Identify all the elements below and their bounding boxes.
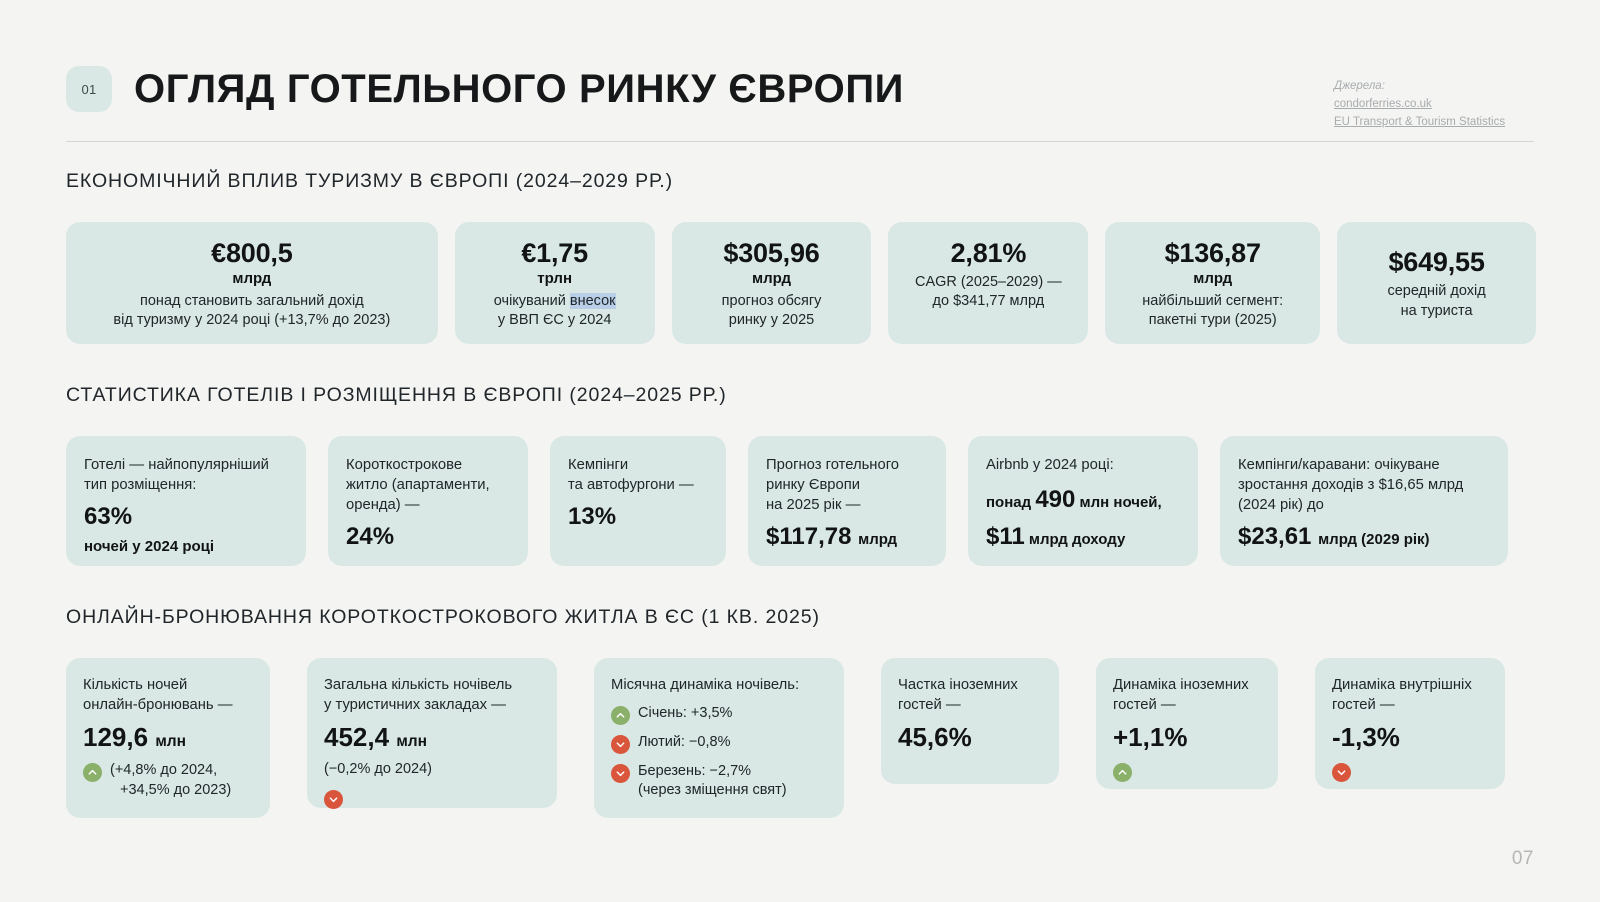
page-title: ОГЛЯД ГОТЕЛЬНОГО РИНКУ ЄВРОПИ xyxy=(134,69,904,109)
card-lead-line-2: житло (апартаменти, xyxy=(346,476,510,496)
stat-card-cagr: 2,81% CAGR (2025–2029) — до $341,77 млрд xyxy=(888,222,1088,344)
section-title-online-bookings: ОНЛАЙН-БРОНЮВАННЯ КОРОТКОСТРОКОВОГО ЖИТЛ… xyxy=(66,606,820,629)
card-value: 129,6 млн xyxy=(83,722,253,753)
card-value: $117,78 млрд xyxy=(766,522,928,552)
chevron-up-icon xyxy=(611,706,630,725)
month-label-note: (через зміщення свят) xyxy=(638,781,787,800)
month-label: Березень: −2,7% xyxy=(638,762,787,781)
card-value-sub: ночей у 2024 році xyxy=(84,537,288,557)
stat-card-avg-revenue-per-tourist: $649,55 середній дохід на туриста xyxy=(1337,222,1536,344)
card-value-unit: млн xyxy=(396,733,427,750)
card-lead-line-2: онлайн-бронювань — xyxy=(83,696,253,716)
trend-row: (+4,8% до 2024, +34,5% до 2023) xyxy=(83,761,253,800)
stat-card-total-revenue: €800,5 млрд понад становить загальний до… xyxy=(66,222,438,344)
stat-card-foreign-guest-share: Частка іноземних гостей — 45,6% xyxy=(881,658,1059,784)
stat-desc-line-1: понад становить загальний дохід xyxy=(140,292,364,311)
stat-desc-line-2: ринку у 2025 xyxy=(729,311,815,330)
trend-text-line-2: +34,5% до 2023) xyxy=(110,781,231,801)
trend-text: (+4,8% до 2024, +34,5% до 2023) xyxy=(110,761,231,800)
chapter-number-badge: 01 xyxy=(66,66,112,112)
card-lead-line-2: гостей — xyxy=(1332,696,1488,716)
section-title-economic-impact: ЕКОНОМІЧНИЙ ВПЛИВ ТУРИЗМУ В ЄВРОПІ (2024… xyxy=(66,170,673,193)
trend-text-line-1: (+4,8% до 2024, xyxy=(110,761,231,781)
source-link-2[interactable]: EU Transport & Tourism Statistics xyxy=(1334,114,1534,132)
stat-card-online-booking-nights: Кількість ночей онлайн-бронювань — 129,6… xyxy=(66,658,270,818)
list-item: Лютий: −0,8% xyxy=(611,733,827,754)
strong-suffix: млрд доходу xyxy=(1025,531,1126,548)
stat-card-foreign-guest-dynamics: Динаміка іноземних гостей — +1,1% xyxy=(1096,658,1278,789)
stat-value: €800,5 xyxy=(211,238,292,268)
card-lead-line-1: Частка іноземних xyxy=(898,676,1042,696)
chevron-up-icon xyxy=(1113,763,1132,782)
source-link-1[interactable]: condorferries.co.uk xyxy=(1334,96,1534,114)
stat-desc-line-2: пакетні тури (2025) xyxy=(1149,311,1277,330)
stat-card-camping-revenue-growth: Кемпінги/каравани: очікуване зростання д… xyxy=(1220,436,1508,566)
page-number: 07 xyxy=(1512,848,1534,870)
card-value-unit: млрд (2029 рік) xyxy=(1318,531,1429,548)
selected-text-highlight: внесок xyxy=(570,293,616,309)
stat-card-domestic-guest-dynamics: Динаміка внутрішніх гостей — -1,3% xyxy=(1315,658,1505,789)
section-title-hotel-statistics: СТАТИСТИКА ГОТЕЛІВ І РОЗМІЩЕННЯ В ЄВРОПІ… xyxy=(66,384,727,407)
stat-card-monthly-dynamics: Місячна динаміка ночівель: Січень: +3,5%… xyxy=(594,658,844,818)
card-lead-line-1: Короткострокове xyxy=(346,456,510,476)
online-bookings-card-row: Кількість ночей онлайн-бронювань — 129,6… xyxy=(66,658,1536,818)
stat-value: 2,81% xyxy=(951,238,1027,268)
card-value: -1,3% xyxy=(1332,722,1488,753)
stat-card-hotels-share: Готелі — найпопулярніший тип розміщення:… xyxy=(66,436,306,566)
stat-desc-line-2: у ВВП ЄС у 2024 xyxy=(498,311,612,330)
slide-header: 01 ОГЛЯД ГОТЕЛЬНОГО РИНКУ ЄВРОПИ Джерела… xyxy=(66,56,1534,144)
chevron-up-icon xyxy=(83,763,102,782)
list-item: Березень: −2,7% (через зміщення свят) xyxy=(611,762,827,800)
list-item: Січень: +3,5% xyxy=(611,704,827,725)
sources-block: Джерела: condorferries.co.uk EU Transpor… xyxy=(1334,78,1534,131)
stat-desc-line-2: на туриста xyxy=(1401,302,1473,321)
stat-unit: млрд xyxy=(752,269,791,289)
card-lead-line-3: (2024 рік) до xyxy=(1238,496,1490,516)
stat-desc-line-2: до $341,77 млрд xyxy=(933,292,1045,311)
card-lead-line-2: тип розміщення: xyxy=(84,476,288,496)
stat-desc-line-1: середній дохід xyxy=(1387,282,1485,301)
card-lead-line-1: Загальна кількість ночівель xyxy=(324,676,540,696)
hotel-statistics-card-row: Готелі — найпопулярніший тип розміщення:… xyxy=(66,436,1536,566)
card-lead-line-1: Кемпінги/каравани: очікуване xyxy=(1238,456,1490,476)
stat-card-gdp-contribution: €1,75 трлн очікуваний внесок у ВВП ЄС у … xyxy=(455,222,655,344)
stat-desc-line-2: від туризму у 2024 році (+13,7% до 2023) xyxy=(113,311,390,330)
card-value: 13% xyxy=(568,502,708,532)
economic-impact-card-row: €800,5 млрд понад становить загальний до… xyxy=(66,222,1536,344)
card-value-unit: млн xyxy=(155,733,186,750)
strong-number: $11 xyxy=(986,523,1025,550)
stat-desc-line-1: очікуваний внесок xyxy=(494,292,616,311)
stat-card-short-term-rental-share: Короткострокове житло (апартаменти, орен… xyxy=(328,436,528,566)
card-value: 45,6% xyxy=(898,722,1042,753)
chevron-down-icon xyxy=(611,735,630,754)
card-value: 24% xyxy=(346,522,510,552)
card-lead-line-2: та автофургони — xyxy=(568,476,708,496)
card-lead-line-2: гостей — xyxy=(1113,696,1261,716)
stat-desc-line-1: CAGR (2025–2029) — xyxy=(915,273,1062,292)
card-value: +1,1% xyxy=(1113,722,1261,753)
card-strong-line-1: понад 490 млн ночей, xyxy=(986,483,1180,518)
strong-prefix: понад xyxy=(986,494,1035,511)
chevron-down-icon xyxy=(1332,763,1351,782)
card-lead-line-2: у туристичних закладах — xyxy=(324,696,540,716)
card-value-number: $23,61 xyxy=(1238,523,1311,550)
stat-card-hotel-market-forecast: Прогноз готельного ринку Європи на 2025 … xyxy=(748,436,946,566)
card-value: 63% xyxy=(84,502,288,532)
card-lead-line-1: Airbnb у 2024 році: xyxy=(986,456,1180,476)
stat-unit: млрд xyxy=(232,269,271,289)
card-lead-line-2: зростання доходів з $16,65 млрд xyxy=(1238,476,1490,496)
card-lead-line-1: Місячна динаміка ночівель: xyxy=(611,676,827,696)
stat-desc-line-1: прогноз обсягу xyxy=(722,292,822,311)
monthly-dynamics-list: Січень: +3,5% Лютий: −0,8% Березень: −2,… xyxy=(611,704,827,800)
stat-card-airbnb: Airbnb у 2024 році: понад 490 млн ночей,… xyxy=(968,436,1198,566)
stat-unit: млрд xyxy=(1193,269,1232,289)
card-value-number: $117,78 xyxy=(766,523,851,550)
sources-label: Джерела: xyxy=(1334,78,1534,96)
month-label: Лютий: −0,8% xyxy=(638,733,731,752)
card-value-number: 129,6 xyxy=(83,722,148,752)
desc-text: очікуваний xyxy=(494,293,570,309)
month-label-group: Березень: −2,7% (через зміщення свят) xyxy=(638,762,787,800)
header-row: 01 ОГЛЯД ГОТЕЛЬНОГО РИНКУ ЄВРОПИ xyxy=(66,56,1534,122)
stat-card-largest-segment: $136,87 млрд найбільший сегмент: пакетні… xyxy=(1105,222,1320,344)
card-value-number: 452,4 xyxy=(324,722,389,752)
stat-value: $649,55 xyxy=(1388,247,1484,277)
stat-desc-line-1: найбільший сегмент: xyxy=(1142,292,1283,311)
card-lead-line-1: Динаміка іноземних xyxy=(1113,676,1261,696)
strong-number: 490 xyxy=(1035,486,1075,513)
chevron-down-icon xyxy=(611,764,630,783)
card-lead-line-1: Кемпінги xyxy=(568,456,708,476)
stat-card-total-nights: Загальна кількість ночівель у туристични… xyxy=(307,658,557,808)
stat-value: $305,96 xyxy=(723,238,819,268)
card-lead-line-1: Динаміка внутрішніх xyxy=(1332,676,1488,696)
card-lead-line-1: Прогноз готельного xyxy=(766,456,928,476)
chevron-down-icon xyxy=(324,790,343,809)
slide: 01 ОГЛЯД ГОТЕЛЬНОГО РИНКУ ЄВРОПИ Джерела… xyxy=(0,0,1600,902)
card-strong-line-2: $11 млрд доходу xyxy=(986,520,1180,555)
card-lead-line-3: на 2025 рік — xyxy=(766,496,928,516)
header-divider xyxy=(66,141,1534,142)
card-lead-line-2: ринку Європи xyxy=(766,476,928,496)
card-value: $23,61 млрд (2029 рік) xyxy=(1238,522,1490,552)
card-lead-line-1: Готелі — найпопулярніший xyxy=(84,456,288,476)
card-lead-line-1: Кількість ночей xyxy=(83,676,253,696)
card-value-unit: млрд xyxy=(858,531,897,548)
card-note: (−0,2% до 2024) xyxy=(324,760,540,780)
stat-unit: трлн xyxy=(537,269,572,289)
month-label: Січень: +3,5% xyxy=(638,704,732,723)
card-lead-line-3: оренда) — xyxy=(346,496,510,516)
stat-card-market-forecast: $305,96 млрд прогноз обсягу ринку у 2025 xyxy=(672,222,872,344)
card-value: 452,4 млн xyxy=(324,722,540,753)
stat-value: €1,75 xyxy=(521,238,588,268)
card-lead-line-2: гостей — xyxy=(898,696,1042,716)
stat-card-camping-share: Кемпінги та автофургони — 13% xyxy=(550,436,726,566)
strong-suffix: млн ночей, xyxy=(1075,494,1161,511)
stat-value: $136,87 xyxy=(1165,238,1261,268)
